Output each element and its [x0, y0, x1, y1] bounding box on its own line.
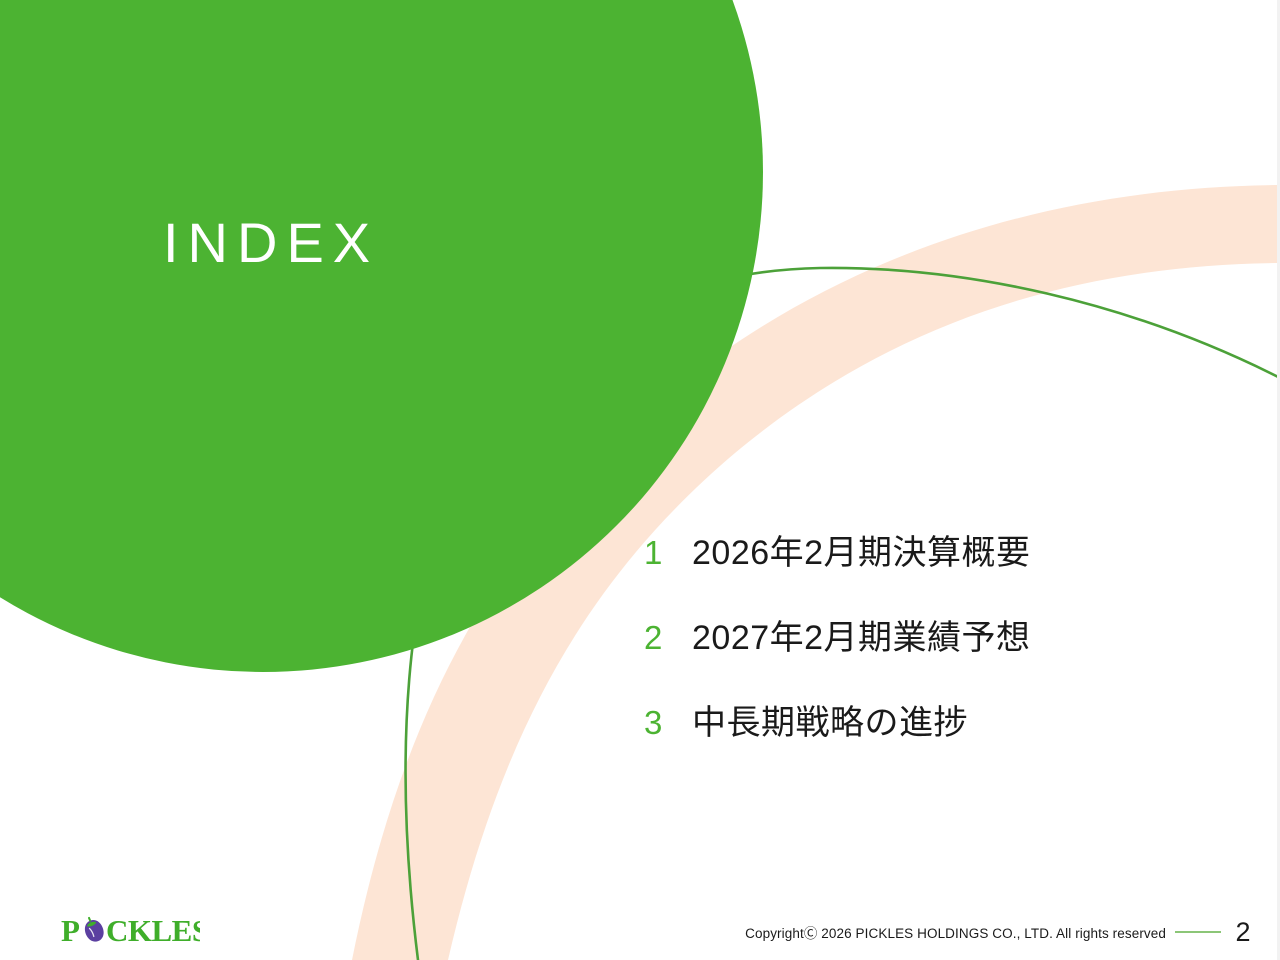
eggplant-icon: [80, 914, 106, 945]
index-item-label: 2026年2月期決算概要: [692, 530, 1031, 576]
footer: CopyrightⒸ 2026 PICKLES HOLDINGS CO., LT…: [745, 912, 1266, 952]
index-item-3[interactable]: 3 中長期戦略の進捗: [644, 700, 1204, 785]
index-item-number: 2: [644, 615, 692, 661]
footer-divider: [1175, 931, 1221, 933]
copyright-text: CopyrightⒸ 2026 PICKLES HOLDINGS CO., LT…: [745, 922, 1166, 942]
index-item-2[interactable]: 2 2027年2月期業績予想: [644, 615, 1204, 700]
slide-border: [0, 0, 1280, 960]
logo-text-p: P: [61, 913, 80, 948]
index-item-number: 1: [644, 530, 692, 576]
background-artwork: [0, 0, 1280, 960]
index-item-1[interactable]: 1 2026年2月期決算概要: [644, 530, 1204, 615]
index-list: 1 2026年2月期決算概要 2 2027年2月期業績予想 3 中長期戦略の進捗: [644, 530, 1204, 785]
slide: INDEX 1 2026年2月期決算概要 2 2027年2月期業績予想 3 中長…: [0, 0, 1280, 960]
logo-text-ckles: CKLES: [106, 913, 200, 948]
page-title: INDEX: [163, 209, 379, 277]
pickles-logo: P CKLES: [60, 908, 200, 950]
index-item-label: 中長期戦略の進捗: [692, 700, 968, 746]
index-item-number: 3: [644, 700, 692, 746]
index-item-label: 2027年2月期業績予想: [692, 615, 1031, 661]
page-number: 2: [1232, 917, 1266, 947]
